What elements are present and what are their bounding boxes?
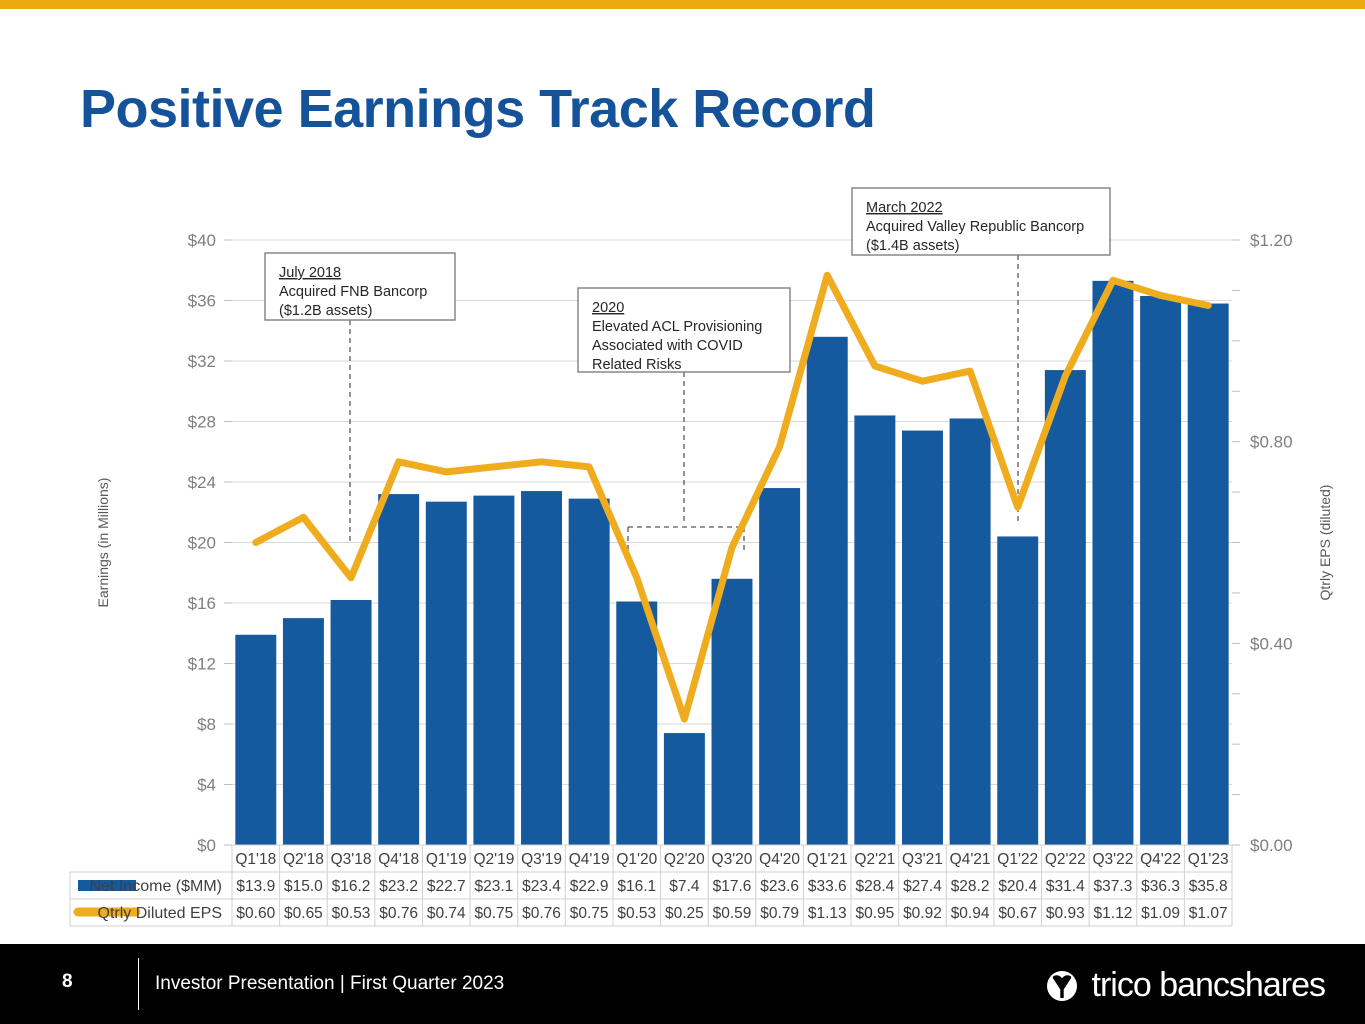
y2-axis-tick-label: $0.00 [1250, 836, 1293, 855]
bar [759, 488, 800, 845]
table-header-cell: Q3'19 [521, 851, 562, 868]
callout-line: Associated with COVID [592, 338, 743, 354]
table-header-cell: Q3'22 [1093, 851, 1134, 868]
callout-line: Elevated ACL Provisioning [592, 319, 762, 335]
page-number: 8 [62, 971, 73, 993]
y2-axis-tick-label: $1.20 [1250, 231, 1293, 250]
callout-march-2022: March 2022Acquired Valley Republic Banco… [852, 188, 1110, 255]
table-value-cell: $16.2 [332, 878, 371, 895]
bar [331, 600, 372, 845]
y2-axis-tick-label: $0.40 [1250, 634, 1293, 653]
table-value-cell: $1.13 [808, 905, 847, 922]
callout-line: Acquired FNB Bancorp [279, 284, 427, 300]
table-value-cell: $0.59 [713, 905, 752, 922]
table-value-cell: $16.1 [617, 878, 656, 895]
table-header-cell: Q2'20 [664, 851, 705, 868]
table-value-cell: $0.53 [332, 905, 371, 922]
bar [569, 499, 610, 845]
table-value-cell: $0.76 [522, 905, 561, 922]
table-header-cell: Q4'19 [569, 851, 610, 868]
table-value-cell: $23.4 [522, 878, 561, 895]
legend-label-eps: Qtrly Diluted EPS [98, 905, 222, 922]
bar [1188, 304, 1229, 845]
table-header-cell: Q1'19 [426, 851, 467, 868]
table-header-cell: Q2'22 [1045, 851, 1086, 868]
table-value-cell: $0.67 [998, 905, 1037, 922]
callout-heading: March 2022 [866, 200, 943, 216]
table-value-cell: $13.9 [236, 878, 275, 895]
table-header-cell: Q4'20 [759, 851, 800, 868]
table-value-cell: $0.25 [665, 905, 704, 922]
table-value-cell: $0.79 [760, 905, 799, 922]
table-header-cell: Q1'21 [807, 851, 848, 868]
table-value-cell: $0.76 [379, 905, 418, 922]
table-value-cell: $15.0 [284, 878, 323, 895]
table-header-cell: Q4'18 [378, 851, 419, 868]
bar [1045, 370, 1086, 845]
table-value-cell: $22.9 [570, 878, 609, 895]
table-value-cell: $35.8 [1189, 878, 1228, 895]
table-value-cell: $36.3 [1141, 878, 1180, 895]
callout-2020-acl: 2020Elevated ACL ProvisioningAssociated … [578, 288, 790, 373]
table-header-cell: Q2'19 [473, 851, 514, 868]
bar [616, 601, 657, 845]
table-value-cell: $28.4 [855, 878, 894, 895]
trico-circle-logo-icon [1043, 967, 1081, 1005]
callout-line: ($1.4B assets) [866, 238, 960, 254]
table-value-cell: $0.74 [427, 905, 466, 922]
y-axis-tick-label: $20 [188, 534, 216, 553]
table-value-cell: $1.09 [1141, 905, 1180, 922]
footer-divider [138, 958, 139, 1010]
table-value-cell: $0.65 [284, 905, 323, 922]
y-axis-tick-label: $16 [188, 594, 216, 613]
bar [854, 415, 895, 845]
bar [1092, 281, 1133, 845]
table-value-cell: $23.6 [760, 878, 799, 895]
y-axis-tick-label: $28 [188, 413, 216, 432]
bar [664, 733, 705, 845]
chart-svg: $0$4$8$12$16$20$24$28$32$36$40$0.00$0.40… [0, 170, 1365, 930]
bar [712, 579, 753, 845]
table-header-cell: Q2'21 [854, 851, 895, 868]
table-header-cell: Q3'18 [331, 851, 372, 868]
bar [902, 431, 943, 845]
table-header-cell: Q3'20 [712, 851, 753, 868]
callout-july-2018: July 2018Acquired FNB Bancorp($1.2B asse… [265, 253, 455, 320]
table-value-cell: $1.12 [1094, 905, 1133, 922]
table-value-cell: $22.7 [427, 878, 466, 895]
table-value-cell: $0.93 [1046, 905, 1085, 922]
y-axis-tick-label: $36 [188, 292, 216, 311]
y-axis-tick-label: $32 [188, 352, 216, 371]
footer-subtitle: Investor Presentation | First Quarter 20… [155, 973, 504, 995]
table-value-cell: $23.2 [379, 878, 418, 895]
y-axis-tick-label: $40 [188, 231, 216, 250]
bar [378, 494, 419, 845]
table-header-cell: Q4'21 [950, 851, 991, 868]
page-title: Positive Earnings Track Record [80, 78, 875, 140]
y-axis-tick-label: $4 [197, 776, 216, 795]
callout-line: ($1.2B assets) [279, 303, 373, 319]
callout-line: Acquired Valley Republic Bancorp [866, 219, 1084, 235]
table-value-cell: $20.4 [998, 878, 1037, 895]
bar [473, 496, 514, 845]
bar [283, 618, 324, 845]
bar [950, 418, 991, 845]
earnings-chart: $0$4$8$12$16$20$24$28$32$36$40$0.00$0.40… [0, 170, 1365, 930]
callout-heading: 2020 [592, 300, 624, 316]
table-value-cell: $1.07 [1189, 905, 1228, 922]
table-header-cell: Q3'21 [902, 851, 943, 868]
bar [235, 635, 276, 845]
table-value-cell: $37.3 [1094, 878, 1133, 895]
y2-axis-title: Qtrly EPS (diluted) [1317, 485, 1333, 601]
top-accent-bar [0, 0, 1365, 9]
table-header-cell: Q2'18 [283, 851, 324, 868]
callout-line: Related Risks [592, 357, 681, 373]
bar [807, 337, 848, 845]
table-value-cell: $33.6 [808, 878, 847, 895]
table-value-cell: $0.53 [617, 905, 656, 922]
table-header-cell: Q1'18 [235, 851, 276, 868]
brand-name: trico bancshares [1092, 966, 1325, 1005]
callout-leader [628, 372, 744, 551]
callout-heading: July 2018 [279, 265, 341, 281]
table-value-cell: $17.6 [713, 878, 752, 895]
table-value-cell: $0.60 [236, 905, 275, 922]
chart-data-table: Q1'18Q2'18Q3'18Q4'18Q1'19Q2'19Q3'19Q4'19… [70, 845, 1232, 926]
bar [521, 491, 562, 845]
table-value-cell: $0.94 [951, 905, 990, 922]
y-axis-title: Earnings (in Millions) [95, 478, 111, 608]
y-axis-tick-label: $8 [197, 715, 216, 734]
bar [1140, 296, 1181, 845]
y2-axis-tick-label: $0.80 [1250, 433, 1293, 452]
table-header-cell: Q4'22 [1140, 851, 1181, 868]
table-value-cell: $27.4 [903, 878, 942, 895]
bar [997, 536, 1038, 845]
legend-label-net-income: Net Income ($MM) [90, 878, 222, 895]
y-axis-tick-label: $0 [197, 836, 216, 855]
table-value-cell: $31.4 [1046, 878, 1085, 895]
table-value-cell: $23.1 [475, 878, 514, 895]
y-axis-tick-label: $24 [188, 473, 216, 492]
table-header-cell: Q1'22 [997, 851, 1038, 868]
table-value-cell: $0.95 [855, 905, 894, 922]
table-value-cell: $0.75 [570, 905, 609, 922]
table-value-cell: $0.92 [903, 905, 942, 922]
table-value-cell: $28.2 [951, 878, 990, 895]
brand-lockup: trico bancshares [1043, 966, 1325, 1005]
right-axis: $0.00$0.40$0.80$1.20 [1232, 231, 1293, 855]
table-value-cell: $0.75 [475, 905, 514, 922]
y-axis-tick-label: $12 [188, 655, 216, 674]
bar [426, 502, 467, 845]
table-header-cell: Q1'23 [1188, 851, 1229, 868]
table-value-cell: $7.4 [669, 878, 700, 895]
table-header-cell: Q1'20 [616, 851, 657, 868]
